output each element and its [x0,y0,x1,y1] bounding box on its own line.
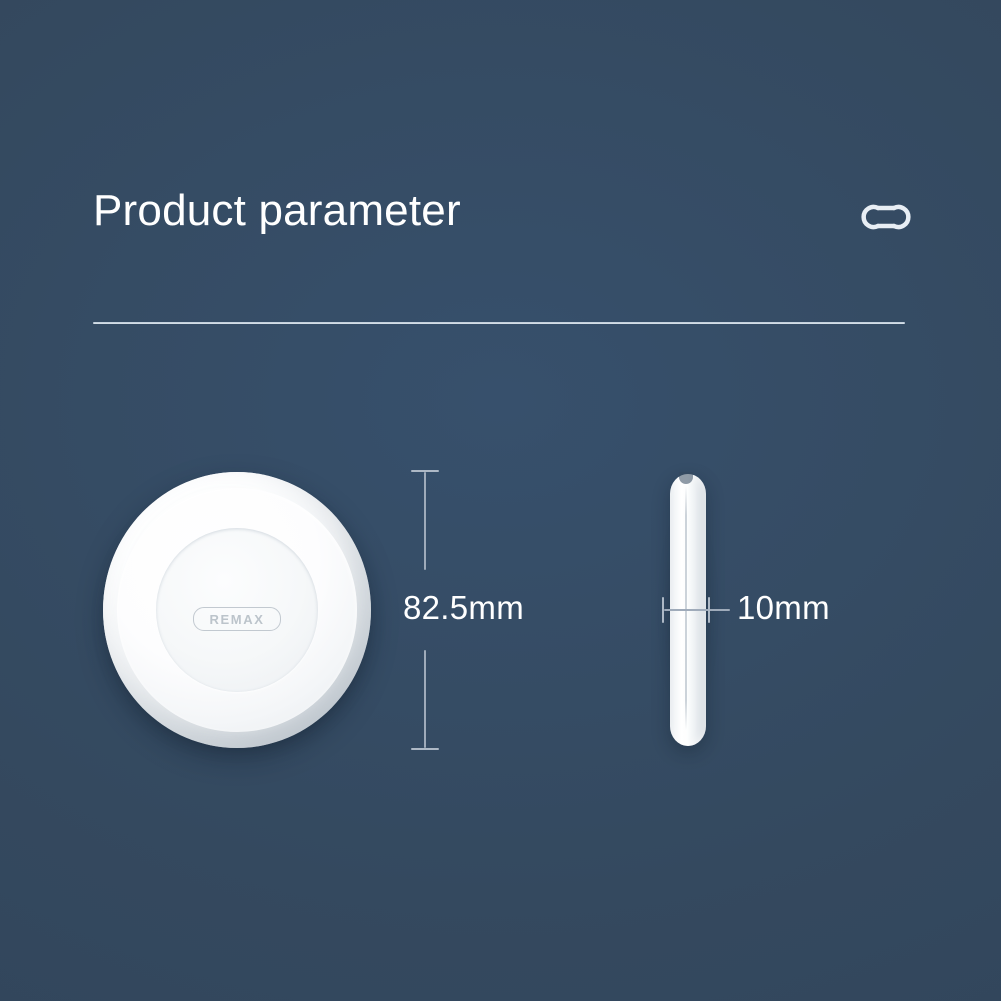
dimension-segment-horizontal [664,609,730,611]
product-parameter-slide: Product parameter REMAX 82.5mm 10mm [0,0,1001,1001]
infinity-loop-icon [858,196,914,238]
thickness-dimension-line [662,597,730,623]
dimension-segment-upper [424,472,426,570]
dimension-cap-right [708,597,710,623]
thickness-dimension-label: 10mm [737,589,830,627]
page-title: Product parameter [93,189,461,233]
dimension-cap-bottom [411,748,439,750]
dimension-segment-lower [424,650,426,748]
diameter-dimension-label: 82.5mm [403,589,524,627]
wireless-charging-pad-top-view: REMAX [101,470,373,750]
remax-logo: REMAX [193,607,281,631]
header-divider [93,322,905,324]
